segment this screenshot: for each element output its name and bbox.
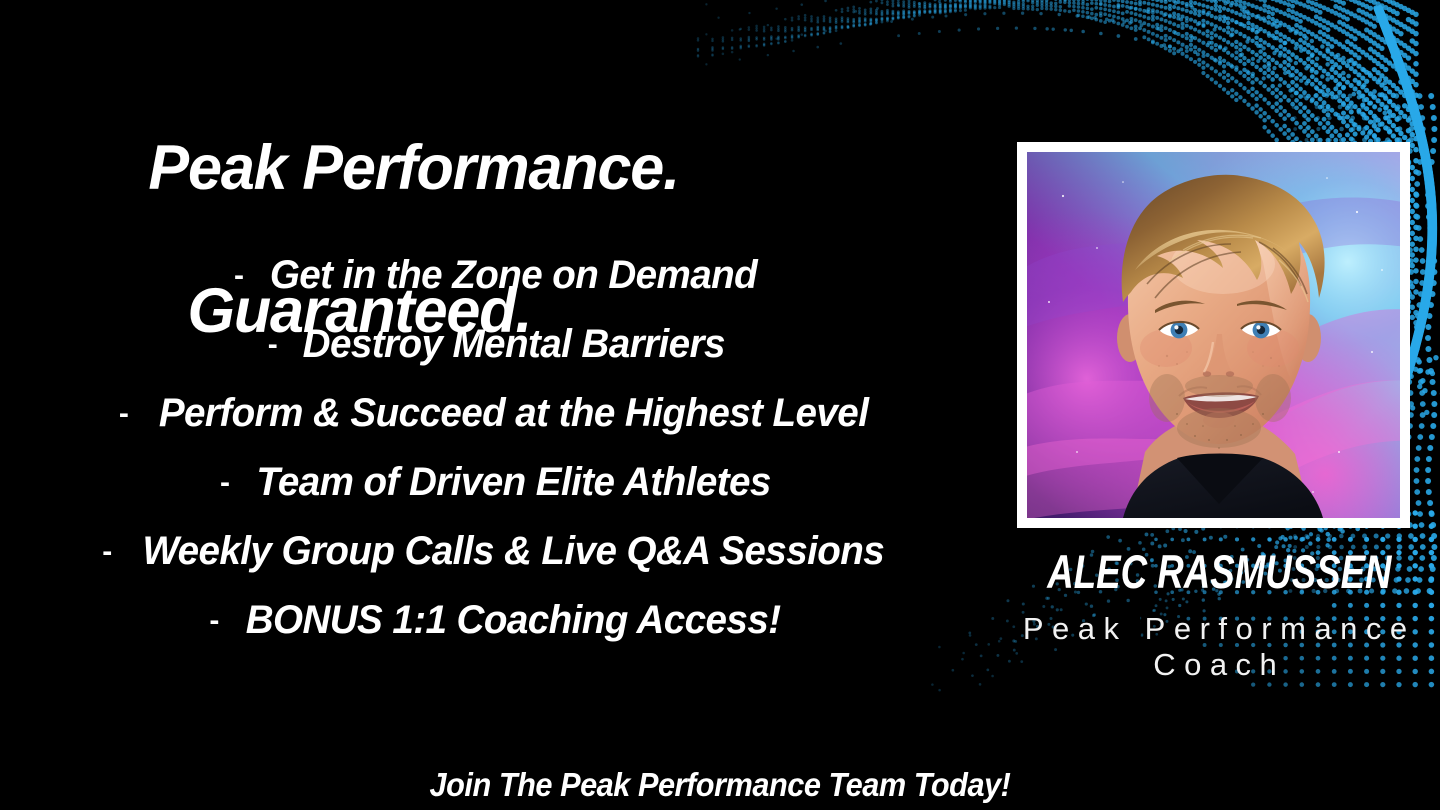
coach-photo-frame — [1017, 142, 1410, 528]
list-item: - Get in the Zone on Demand — [0, 255, 1000, 324]
list-item: - Perform & Succeed at the Highest Level — [0, 393, 1000, 462]
list-item: - BONUS 1:1 Coaching Access! — [0, 600, 1000, 669]
list-item-label: Perform & Succeed at the Highest Level — [159, 393, 868, 433]
list-item-label: BONUS 1:1 Coaching Access! — [246, 600, 781, 640]
list-item: - Destroy Mental Barriers — [0, 324, 1000, 393]
bullet-dash-icon: - — [234, 261, 244, 291]
coach-identity: ALEC RASMUSSEN Peak Performance Coach — [1000, 548, 1430, 684]
bullet-dash-icon: - — [220, 468, 230, 498]
coach-role-line-2: Coach — [1000, 647, 1430, 683]
bullet-dash-icon: - — [209, 606, 219, 636]
headline-line-1: Peak Performance. — [15, 133, 985, 204]
coach-name: ALEC RASMUSSEN — [1047, 548, 1382, 595]
coach-portrait-photo — [1027, 152, 1400, 518]
list-item-label: Destroy Mental Barriers — [302, 324, 724, 364]
promotional-graphic: Peak Performance. Guaranteed. - Get in t… — [0, 0, 1440, 810]
bullet-dash-icon: - — [119, 399, 129, 429]
list-item: - Team of Driven Elite Athletes — [0, 462, 1000, 531]
list-item-label: Weekly Group Calls & Live Q&A Sessions — [143, 531, 885, 571]
list-item-label: Team of Driven Elite Athletes — [256, 462, 770, 502]
list-item: - Weekly Group Calls & Live Q&A Sessions — [0, 531, 1000, 600]
list-item-label: Get in the Zone on Demand — [270, 255, 757, 295]
bullet-dash-icon: - — [102, 537, 112, 567]
benefits-list: - Get in the Zone on Demand - Destroy Me… — [0, 255, 1000, 669]
coach-role: Peak Performance Coach — [1000, 611, 1430, 684]
content-column: Peak Performance. Guaranteed. - Get in t… — [0, 0, 1000, 810]
cta-text: Join The Peak Performance Team Today! — [50, 766, 1389, 804]
coach-role-line-1: Peak Performance — [1000, 611, 1430, 647]
bullet-dash-icon: - — [268, 330, 278, 360]
